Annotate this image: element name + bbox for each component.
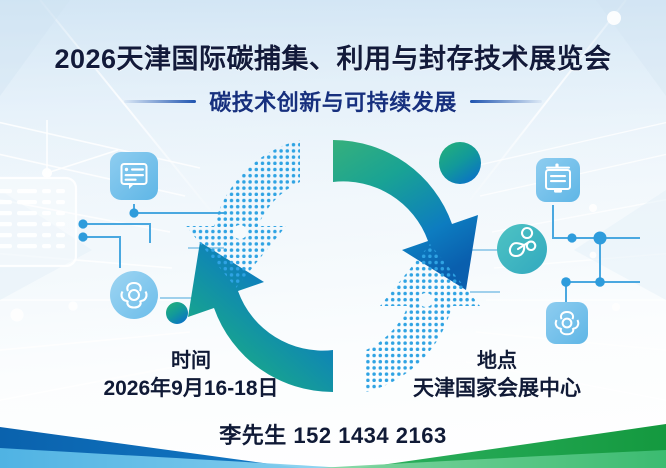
page-subtitle: 碳技术创新与可持续发展	[209, 85, 457, 117]
event-venue-label: 地点	[372, 348, 622, 374]
subtitle-row: 碳技术创新与可持续发展	[0, 85, 666, 117]
event-venue-block: 地点 天津国家会展中心	[372, 348, 622, 404]
title-block: 2026天津国际碳捕集、利用与封存技术展览会 碳技术创新与可持续发展	[0, 42, 666, 117]
poster-canvas: 2026天津国际碳捕集、利用与封存技术展览会 碳技术创新与可持续发展 时间 20…	[0, 0, 666, 468]
event-date-block: 时间 2026年9月16-18日	[66, 348, 316, 404]
subtitle-rule-left	[124, 100, 196, 103]
subtitle-rule-right	[470, 100, 542, 103]
event-date-value: 2026年9月16-18日	[66, 374, 316, 404]
event-date-label: 时间	[66, 348, 316, 374]
page-title: 2026天津国际碳捕集、利用与封存技术展览会	[0, 42, 666, 76]
contact-line: 李先生 152 1434 2163	[0, 418, 666, 450]
event-venue-value: 天津国家会展中心	[372, 374, 622, 404]
